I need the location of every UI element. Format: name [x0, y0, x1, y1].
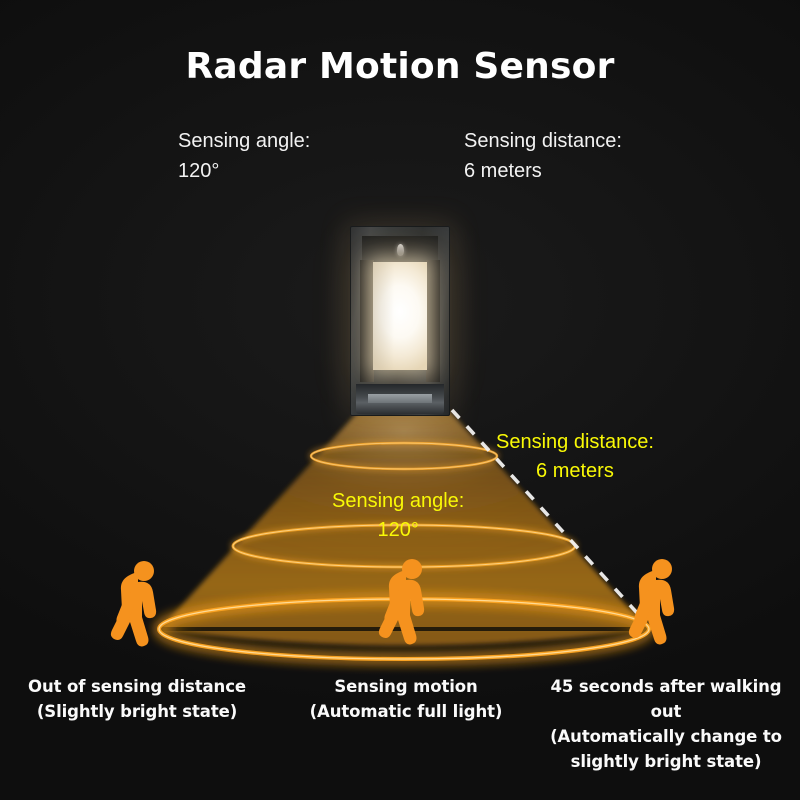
- radar-motion-sensor-lamp: [350, 226, 450, 416]
- caption-mid-line1: Sensing motion: [282, 674, 530, 699]
- radar-motion-sensor-infographic: Radar Motion Sensor Sensing angle: 120° …: [0, 0, 800, 800]
- callout-sensing-distance-value: 6 meters: [496, 457, 654, 486]
- caption-mid-line2: (Automatic full light): [282, 699, 530, 724]
- caption-left-line1: Out of sensing distance: [6, 674, 268, 699]
- caption-sensing-motion: Sensing motion (Automatic full light): [282, 674, 530, 724]
- spec-sensing-distance-value: 6 meters: [464, 156, 622, 186]
- beam-ring-near-highlight: [311, 443, 497, 469]
- walking-person-icon-left: [108, 560, 174, 662]
- caption-45-seconds-after-walking-out: 45 seconds after walking out (Automatica…: [534, 674, 798, 774]
- spec-sensing-angle-value: 120°: [178, 156, 310, 186]
- spec-sensing-angle: Sensing angle: 120°: [178, 126, 310, 186]
- page-title: Radar Motion Sensor: [0, 46, 800, 87]
- callout-sensing-angle-label: Sensing angle:: [332, 487, 464, 516]
- spec-sensing-distance-label: Sensing distance:: [464, 126, 622, 156]
- caption-right-line1: 45 seconds after walking out: [534, 674, 798, 724]
- callout-sensing-angle: Sensing angle: 120°: [332, 487, 464, 545]
- caption-right-line3: slightly bright state): [534, 749, 798, 774]
- walking-person-icon-middle: [376, 558, 442, 660]
- spec-sensing-angle-label: Sensing angle:: [178, 126, 310, 156]
- callout-sensing-distance-label: Sensing distance:: [496, 428, 654, 457]
- callout-sensing-distance: Sensing distance: 6 meters: [496, 428, 654, 486]
- walking-person-icon-right: [626, 558, 692, 660]
- beam-ring-near: [311, 443, 497, 469]
- spec-sensing-distance: Sensing distance: 6 meters: [464, 126, 622, 186]
- caption-right-line2: (Automatically change to: [534, 724, 798, 749]
- callout-sensing-angle-value: 120°: [332, 516, 464, 545]
- caption-left-line2: (Slightly bright state): [6, 699, 268, 724]
- lamp-frame-edge: [350, 226, 450, 416]
- caption-out-of-sensing-distance: Out of sensing distance (Slightly bright…: [6, 674, 268, 724]
